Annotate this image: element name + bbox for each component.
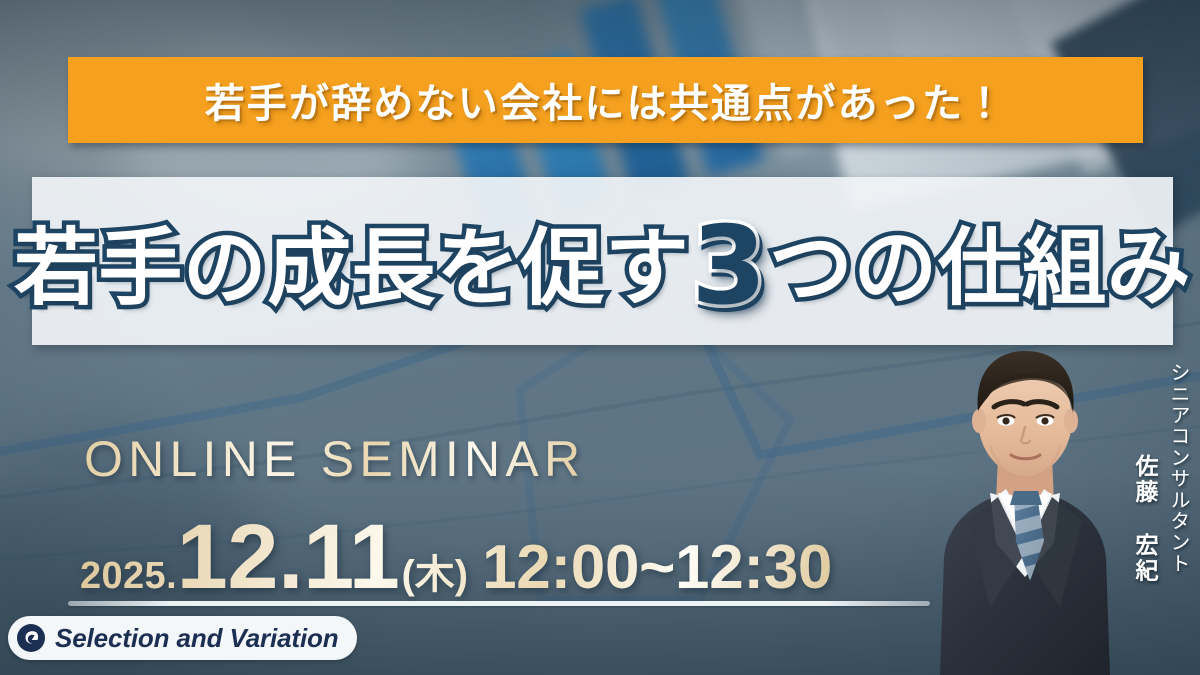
speaker-portrait bbox=[894, 345, 1152, 675]
headline-part-after: つの仕組み bbox=[769, 226, 1191, 310]
speaker-role: シニアコンサルタント bbox=[1165, 362, 1194, 574]
speaker-info: 佐藤 宏紀 シニアコンサルタント bbox=[1127, 362, 1194, 584]
date-day-of-week: (木) bbox=[399, 542, 468, 600]
headline-text: 若手の成長を促す3つの仕組み bbox=[14, 207, 1191, 315]
headline-part-before: 若手の成長を促す bbox=[14, 226, 689, 310]
divider-rule bbox=[68, 601, 930, 606]
headline-number-3: 3 bbox=[691, 213, 767, 321]
kicker-text: 若手が辞めない会社には共通点があった！ bbox=[205, 71, 1007, 129]
company-logo-text: Selection and Variation bbox=[55, 623, 339, 654]
headline-panel: 若手の成長を促す3つの仕組み bbox=[32, 177, 1173, 345]
circle-comma-logo-icon bbox=[16, 623, 46, 653]
date-separator: . bbox=[166, 555, 177, 598]
webinar-banner: 若手が辞めない会社には共通点があった！ 若手の成長を促す3つの仕組み ONLIN… bbox=[0, 0, 1200, 675]
company-logo[interactable]: Selection and Variation bbox=[8, 616, 357, 660]
seminar-label: ONLINE SEMINAR bbox=[84, 430, 585, 488]
kicker-banner: 若手が辞めない会社には共通点があった！ bbox=[68, 57, 1143, 143]
date-time-range: 12:00~12:30 bbox=[468, 532, 832, 603]
speaker-name: 佐藤 宏紀 bbox=[1127, 454, 1161, 584]
ear-left bbox=[972, 409, 986, 433]
ear-right bbox=[1064, 409, 1078, 433]
date-time-line: 2025 . 12.11 (木) 12:00~12:30 bbox=[80, 505, 832, 610]
date-year: 2025 bbox=[80, 555, 166, 598]
date-month-day: 12.11 bbox=[177, 505, 400, 610]
